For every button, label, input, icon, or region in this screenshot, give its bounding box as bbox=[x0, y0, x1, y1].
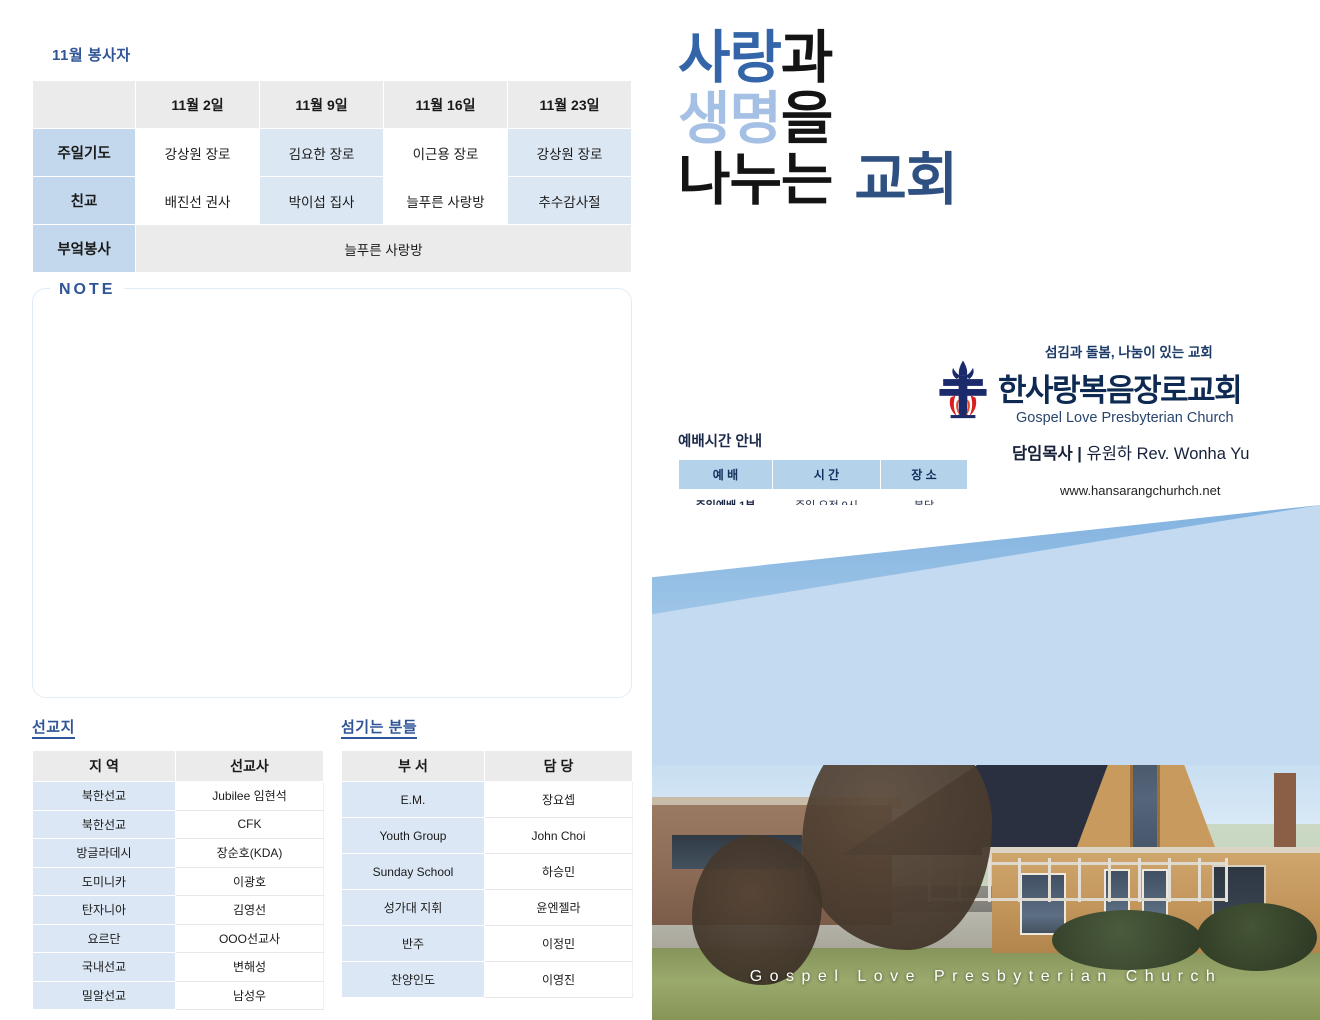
photo-fence-post bbox=[1078, 858, 1081, 902]
photo-bush-1 bbox=[1052, 910, 1202, 970]
mission-section-title: 선교지 bbox=[32, 716, 75, 737]
mission-col-region: 지 역 bbox=[33, 751, 176, 782]
photo-chimney bbox=[1274, 773, 1296, 855]
servants-person-1: John Choi bbox=[485, 818, 633, 854]
mission-name-6: 변해성 bbox=[176, 953, 324, 982]
volunteer-cell-0-2: 이근용 장로 bbox=[384, 129, 508, 177]
photo-fence-post bbox=[1225, 858, 1228, 902]
table-header-row: 11월 2일 11월 9일 11월 16일 11월 23일 bbox=[33, 81, 632, 129]
volunteer-kitchen-value: 늘푸른 사랑방 bbox=[136, 225, 632, 273]
photo-caption: Gospel Love Presbyterian Church bbox=[652, 968, 1320, 986]
servants-dept-5: 찬양인도 bbox=[342, 962, 485, 998]
volunteer-kitchen-label: 부엌봉사 bbox=[33, 225, 136, 273]
table-row: 찬양인도이영진 bbox=[342, 962, 633, 998]
church-name-english: Gospel Love Presbyterian Church bbox=[1016, 410, 1234, 426]
note-label: NOTE bbox=[50, 281, 124, 299]
volunteer-schedule-table: 11월 2일 11월 9일 11월 16일 11월 23일 주일기도 강상원 장… bbox=[32, 80, 632, 273]
mission-name-0: Jubilee 임현석 bbox=[176, 782, 324, 811]
mission-name-7: 남성우 bbox=[176, 981, 324, 1010]
table-row: 방글라데시장순호(KDA) bbox=[33, 839, 324, 868]
volunteer-col-0: 11월 2일 bbox=[136, 81, 260, 129]
pastor-line: 담임목사 | 유원하 Rev. Wonha Yu bbox=[1012, 440, 1249, 464]
table-row: 북한선교Jubilee 임현석 bbox=[33, 782, 324, 811]
photo-fence-post bbox=[1168, 858, 1171, 902]
mission-name-3: 이광호 bbox=[176, 867, 324, 896]
table-row: 도미니카이광호 bbox=[33, 867, 324, 896]
servants-section-title: 섬기는 분들 bbox=[341, 716, 417, 737]
mission-region-6: 국내선교 bbox=[33, 953, 176, 982]
mission-name-5: OOO선교사 bbox=[176, 924, 324, 953]
photo-fence-post bbox=[988, 858, 991, 902]
worship-col-time: 시 간 bbox=[773, 460, 881, 490]
table-row: 성가대 지휘윤엔젤라 bbox=[342, 890, 633, 926]
headline-word-life: 생명 bbox=[678, 87, 781, 151]
photo-tree-small bbox=[692, 835, 822, 985]
mission-region-0: 북한선교 bbox=[33, 782, 176, 811]
table-row: 반주이정민 bbox=[342, 926, 633, 962]
volunteer-cell-1-2: 늘푸른 사랑방 bbox=[384, 177, 508, 225]
servants-dept-2: Sunday School bbox=[342, 854, 485, 890]
photo-fence-post bbox=[1018, 858, 1021, 902]
headline-line-1: 사랑과 bbox=[678, 28, 1078, 89]
church-tagline: 섬김과 돌봄, 나눔이 있는 교회 bbox=[1045, 341, 1213, 361]
mission-region-7: 밀알선교 bbox=[33, 981, 176, 1010]
table-row: Sunday School하승민 bbox=[342, 854, 633, 890]
photo-fence-post bbox=[1198, 858, 1201, 902]
photo-fence-post bbox=[1108, 858, 1111, 902]
volunteer-cell-1-0: 배진선 권사 bbox=[136, 177, 260, 225]
headline: 사랑과 생명을 나누는교회 bbox=[678, 28, 1078, 211]
table-row: 주일기도 강상원 장로 김요한 장로 이근용 장로 강상원 장로 bbox=[33, 129, 632, 177]
table-row: 부엌봉사 늘푸른 사랑방 bbox=[33, 225, 632, 273]
table-header-row: 예 배 시 간 장 소 bbox=[679, 460, 968, 490]
worship-schedule-title: 예배시간 안내 bbox=[678, 430, 762, 451]
table-row: Youth GroupJohn Choi bbox=[342, 818, 633, 854]
worship-col-service: 예 배 bbox=[679, 460, 773, 490]
servants-dept-4: 반주 bbox=[342, 926, 485, 962]
table-row: 북한선교CFK bbox=[33, 810, 324, 839]
headline-word-church: 교회 bbox=[854, 148, 957, 212]
mission-name-2: 장순호(KDA) bbox=[176, 839, 324, 868]
pastor-label: 담임목사 | bbox=[1012, 445, 1082, 463]
mission-region-2: 방글라데시 bbox=[33, 839, 176, 868]
table-row: 친교 배진선 권사 박이섭 집사 늘푸른 사랑방 추수감사절 bbox=[33, 177, 632, 225]
servants-dept-0: E.M. bbox=[342, 782, 485, 818]
servants-person-4: 이정민 bbox=[485, 926, 633, 962]
church-website[interactable]: www.hansarangchurhch.net bbox=[1060, 483, 1220, 498]
mission-region-3: 도미니카 bbox=[33, 867, 176, 896]
servants-col-person: 담 당 bbox=[485, 751, 633, 782]
servants-person-2: 하승민 bbox=[485, 854, 633, 890]
table-row: E.M.장요셉 bbox=[342, 782, 633, 818]
servants-person-0: 장요셉 bbox=[485, 782, 633, 818]
photo-bush-2 bbox=[1197, 903, 1317, 971]
headline-particle-2: 을 bbox=[781, 87, 832, 151]
volunteer-cell-0-3: 강상원 장로 bbox=[508, 129, 632, 177]
servants-person-5: 이영진 bbox=[485, 962, 633, 998]
volunteer-corner-cell bbox=[33, 81, 136, 129]
mission-region-1: 북한선교 bbox=[33, 810, 176, 839]
volunteer-cell-0-0: 강상원 장로 bbox=[136, 129, 260, 177]
volunteer-cell-1-3: 추수감사절 bbox=[508, 177, 632, 225]
servants-table: 부 서 담 당 E.M.장요셉 Youth GroupJohn Choi Sun… bbox=[341, 750, 633, 998]
photo-fence-post bbox=[1048, 858, 1051, 902]
table-row: 밀알선교남성우 bbox=[33, 981, 324, 1010]
volunteer-cell-1-1: 박이섭 집사 bbox=[260, 177, 384, 225]
headline-line-3: 나누는교회 bbox=[678, 150, 1078, 211]
volunteer-col-2: 11월 16일 bbox=[384, 81, 508, 129]
headline-word-share: 나누는 bbox=[678, 148, 832, 212]
worship-col-place: 장 소 bbox=[881, 460, 968, 490]
servants-dept-3: 성가대 지휘 bbox=[342, 890, 485, 926]
servants-dept-1: Youth Group bbox=[342, 818, 485, 854]
volunteer-row-label-1: 친교 bbox=[33, 177, 136, 225]
volunteer-row-label-0: 주일기도 bbox=[33, 129, 136, 177]
church-building-photo: Gospel Love Presbyterian Church bbox=[652, 505, 1320, 1020]
volunteer-col-3: 11월 23일 bbox=[508, 81, 632, 129]
mission-name-4: 김영선 bbox=[176, 896, 324, 925]
church-name-korean: 한사랑복음장로교회 bbox=[998, 365, 1241, 410]
note-box[interactable] bbox=[32, 288, 632, 698]
table-header-row: 부 서 담 당 bbox=[342, 751, 633, 782]
table-header-row: 지 역 선교사 bbox=[33, 751, 324, 782]
mission-field-table: 지 역 선교사 북한선교Jubilee 임현석 북한선교CFK 방글라데시장순호… bbox=[32, 750, 324, 1010]
headline-word-love: 사랑 bbox=[678, 26, 781, 90]
right-page: 사랑과 생명을 나누는교회 섬김과 돌봄, 나눔이 있는 교회 한사랑복음장로교… bbox=[660, 0, 1320, 1020]
pastor-name: 유원하 Rev. Wonha Yu bbox=[1087, 445, 1250, 463]
left-page: 11월 봉사자 11월 2일 11월 9일 11월 16일 11월 23일 주일… bbox=[0, 0, 660, 1020]
volunteer-col-1: 11월 9일 bbox=[260, 81, 384, 129]
mission-col-missionary: 선교사 bbox=[176, 751, 324, 782]
volunteer-section-title: 11월 봉사자 bbox=[52, 44, 131, 65]
servants-col-dept: 부 서 bbox=[342, 751, 485, 782]
headline-line-2: 생명을 bbox=[678, 89, 1078, 150]
headline-particle-1: 과 bbox=[781, 26, 832, 90]
photo-fence-post bbox=[1138, 858, 1141, 902]
table-row: 탄자니아김영선 bbox=[33, 896, 324, 925]
table-row: 요르단OOO선교사 bbox=[33, 924, 324, 953]
servants-person-3: 윤엔젤라 bbox=[485, 890, 633, 926]
mission-section-title-text: 선교지 bbox=[32, 719, 75, 739]
presbyterian-cross-logo-icon bbox=[932, 358, 994, 420]
servants-section-title-text: 섬기는 분들 bbox=[341, 719, 417, 739]
table-row: 국내선교변해성 bbox=[33, 953, 324, 982]
mission-region-5: 요르단 bbox=[33, 924, 176, 953]
mission-name-1: CFK bbox=[176, 810, 324, 839]
mission-region-4: 탄자니아 bbox=[33, 896, 176, 925]
volunteer-cell-0-1: 김요한 장로 bbox=[260, 129, 384, 177]
